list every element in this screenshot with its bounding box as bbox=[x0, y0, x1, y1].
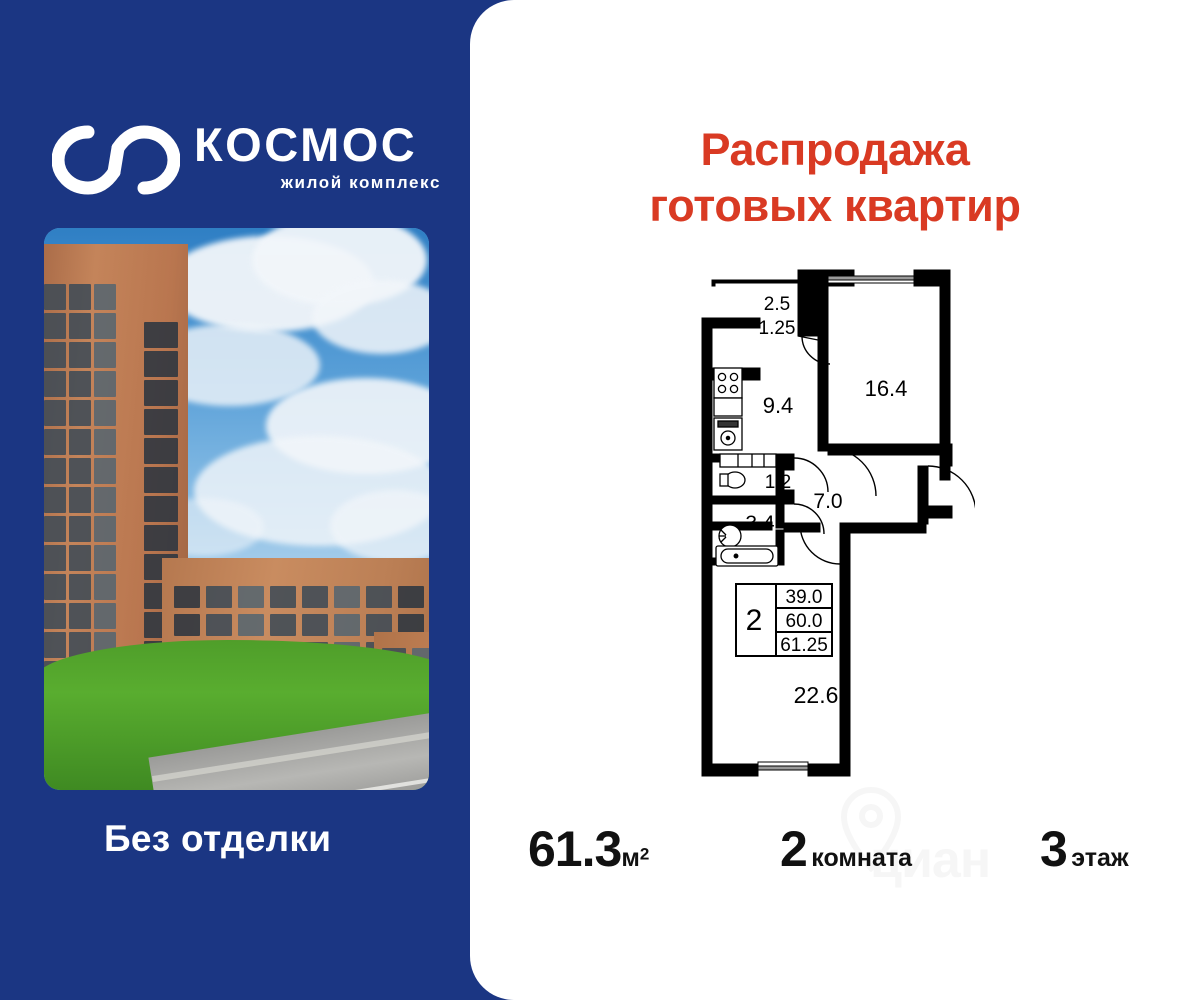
stat-rooms: 2 комната bbox=[780, 820, 912, 878]
window-glass bbox=[758, 762, 808, 766]
headline-line-1: Распродажа bbox=[470, 122, 1200, 178]
left-blue-column: КОСМОС жилой комплекс bbox=[0, 0, 470, 1000]
room-label-kitchen: 9.4 bbox=[763, 393, 794, 418]
area-unit-exponent: 2 bbox=[640, 845, 649, 864]
stat-area: 61.3м2 bbox=[528, 820, 649, 878]
stat-floor: 3 этаж bbox=[1040, 820, 1129, 878]
room-label-living-room: 22.6 bbox=[794, 682, 839, 708]
residential-complex-photo bbox=[44, 228, 429, 790]
room-label-bedroom: 16.4 bbox=[865, 376, 908, 401]
stamp-total-area: 61.25 bbox=[780, 635, 828, 656]
stove-icon bbox=[714, 368, 742, 398]
room-label-balcony-area: 2.5 bbox=[764, 294, 790, 315]
wall bbox=[940, 444, 952, 466]
poster-root: КОСМОС жилой комплекс bbox=[0, 0, 1200, 1000]
brand-logo[interactable]: КОСМОС жилой комплекс bbox=[52, 118, 442, 210]
wall bbox=[702, 764, 758, 776]
rooms-label: комната bbox=[811, 844, 912, 872]
window-glass bbox=[828, 280, 914, 283]
window bbox=[758, 766, 808, 770]
room-label-hall: 7.0 bbox=[813, 490, 842, 513]
stamp-usable-area: 60.0 bbox=[786, 611, 823, 632]
floor-value: 3 bbox=[1040, 821, 1067, 877]
brand-tagline: жилой комплекс bbox=[194, 172, 444, 194]
wall bbox=[918, 506, 952, 518]
balcony-rail-end bbox=[712, 280, 715, 286]
area-value: 61.3 bbox=[528, 821, 621, 877]
wall bbox=[776, 504, 784, 528]
brand-text: КОСМОС жилой комплекс bbox=[194, 118, 444, 194]
stamp-living-area: 39.0 bbox=[786, 587, 823, 608]
wall bbox=[840, 523, 926, 533]
headline-line-2: готовых квартир bbox=[470, 178, 1200, 234]
wall bbox=[702, 564, 712, 776]
balcony-rail bbox=[712, 280, 802, 283]
floor-label: этаж bbox=[1071, 844, 1128, 872]
page-title: Распродажа готовых квартир bbox=[470, 122, 1200, 234]
wall bbox=[828, 444, 952, 455]
apartment-stats-bar: 61.3м2 2 комната 3 этаж bbox=[470, 806, 1200, 896]
wall-living-right bbox=[840, 528, 850, 776]
area-unit: м bbox=[621, 844, 640, 872]
wall bbox=[818, 433, 828, 451]
wall bbox=[702, 318, 760, 328]
wall bbox=[798, 270, 828, 280]
room-label-balcony-area-half: 1.25 bbox=[759, 318, 796, 339]
wall bbox=[784, 454, 794, 470]
wall bbox=[784, 523, 820, 532]
window bbox=[828, 276, 914, 280]
room-label-wc: 1.2 bbox=[765, 472, 791, 493]
room-label-bathroom: 3.4 bbox=[745, 512, 775, 535]
door-arc-kitchen bbox=[794, 458, 828, 492]
brand-name: КОСМОС bbox=[194, 118, 444, 172]
stamp-rooms-count: 2 bbox=[746, 604, 763, 637]
apartment-floor-plan: 2 39.0 60.0 61.25 2.5 1.25 9.4 16.4 1.2 … bbox=[690, 258, 975, 793]
finish-type-caption: Без отделки bbox=[104, 818, 331, 860]
wall bbox=[712, 496, 784, 504]
wall bbox=[798, 322, 828, 336]
wall bbox=[808, 764, 850, 776]
wall bbox=[818, 336, 828, 448]
infinity-icon bbox=[52, 124, 180, 196]
counter-icon bbox=[720, 454, 776, 467]
rooms-value: 2 bbox=[780, 821, 807, 877]
